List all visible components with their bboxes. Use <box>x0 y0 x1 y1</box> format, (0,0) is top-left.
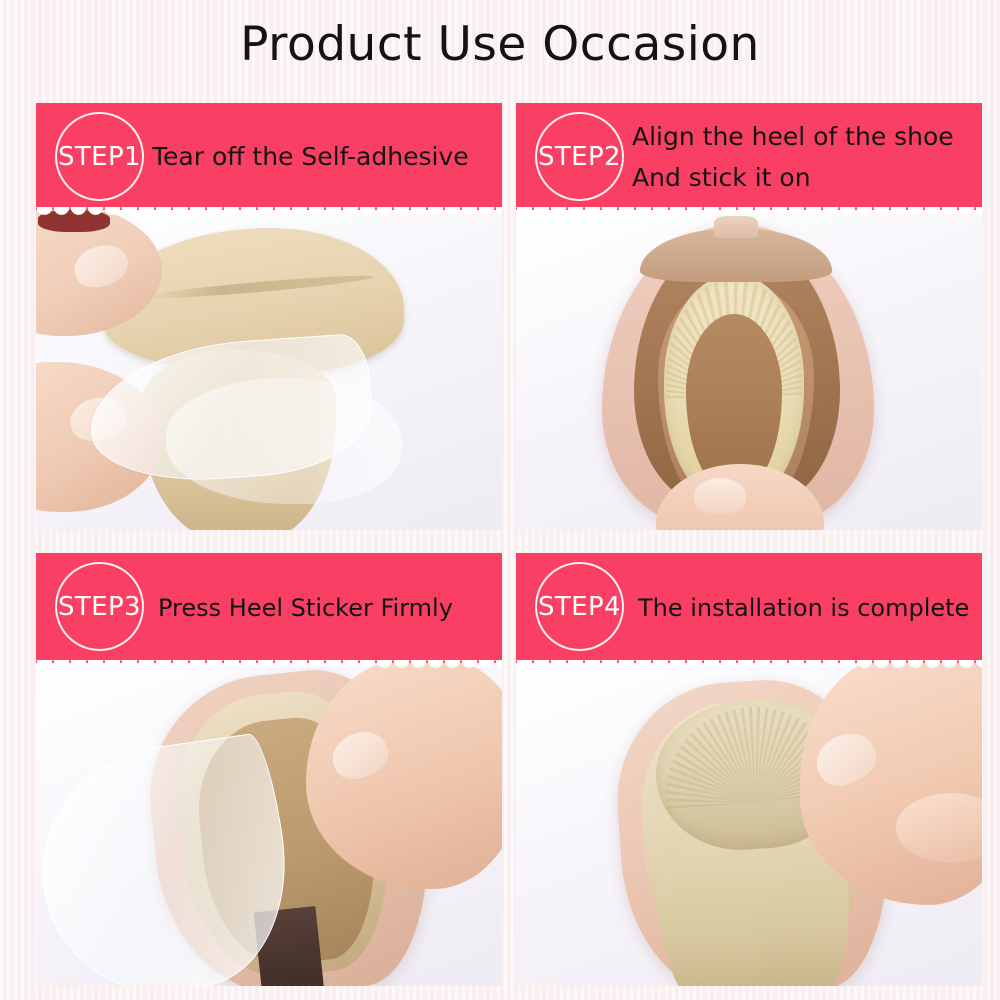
step-caption-3: Press Heel Sticker Firmly <box>158 553 502 663</box>
step-caption-line-2-2: And stick it on <box>632 157 976 198</box>
adhesive-film-sheen-shape <box>166 378 402 504</box>
step-panel-4[interactable]: STEP4 The installation is complete <box>516 553 982 986</box>
scallop-edge-3 <box>36 660 502 672</box>
scallop-edge-4 <box>516 660 982 672</box>
step-banner-4: STEP4 The installation is complete <box>516 553 982 663</box>
step-badge-3: STEP3 <box>55 562 144 651</box>
step-banner-3: STEP3 Press Heel Sticker Firmly <box>36 553 502 663</box>
step-caption-line-1-1: Tear off the Self-adhesive <box>152 136 496 177</box>
step-badge-1: STEP1 <box>55 112 144 201</box>
product-use-occasion-infographic: Product Use Occasion STEP1 Tear off the … <box>0 0 1000 1000</box>
step-badge-label-2: STEP2 <box>538 142 621 172</box>
step-panel-3[interactable]: STEP3 Press Heel Sticker Firmly <box>36 553 502 986</box>
step-badge-label-4: STEP4 <box>538 592 621 622</box>
finger-nail-shape <box>694 478 746 514</box>
shoe-heel-tab-shape <box>714 216 758 238</box>
scallop-edge-2 <box>516 207 982 219</box>
step-badge-label-1: STEP1 <box>58 142 141 172</box>
step-photo-4 <box>516 663 982 986</box>
step-banner-2: STEP2 Align the heel of the shoe And sti… <box>516 103 982 210</box>
step-photo-2 <box>516 210 982 530</box>
scallop-edge-1 <box>36 207 502 219</box>
step-panel-2[interactable]: STEP2 Align the heel of the shoe And sti… <box>516 103 982 530</box>
step-badge-4: STEP4 <box>535 562 624 651</box>
step-caption-line-2-1: Align the heel of the shoe <box>632 116 976 157</box>
step-banner-1: STEP1 Tear off the Self-adhesive <box>36 103 502 210</box>
step-badge-2: STEP2 <box>535 112 624 201</box>
step-photo-1 <box>36 210 502 530</box>
step-caption-2: Align the heel of the shoe And stick it … <box>632 103 976 210</box>
steps-grid: STEP1 Tear off the Self-adhesive <box>36 103 964 963</box>
page-title: Product Use Occasion <box>0 16 1000 74</box>
step-caption-4: The installation is complete <box>638 553 982 663</box>
step-caption-line-4-1: The installation is complete <box>638 588 982 629</box>
step-photo-3 <box>36 663 502 986</box>
step-caption-line-3-1: Press Heel Sticker Firmly <box>158 588 502 629</box>
step-badge-label-3: STEP3 <box>58 592 141 622</box>
step-caption-1: Tear off the Self-adhesive <box>152 103 496 210</box>
step-panel-1[interactable]: STEP1 Tear off the Self-adhesive <box>36 103 502 530</box>
